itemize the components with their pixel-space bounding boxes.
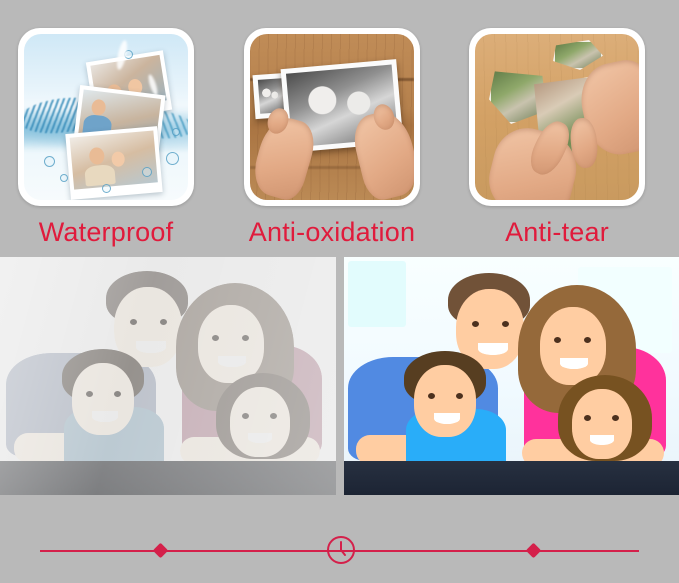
father-eye — [502, 321, 509, 327]
son-eye — [456, 393, 463, 399]
daughter-head — [230, 387, 290, 457]
water-droplet — [60, 174, 68, 182]
mother-eye — [584, 337, 591, 343]
water-droplet — [44, 156, 55, 167]
feature-card-row: Waterproof Anti-oxidation Anti-tear — [0, 0, 679, 255]
father-eye — [472, 321, 479, 327]
family-photo-faded — [0, 257, 336, 495]
background-window — [8, 263, 70, 317]
daughter-eye — [242, 413, 249, 419]
anti-oxidation-scene-image — [250, 34, 414, 200]
feature-label-anti-tear: Anti-tear — [469, 216, 645, 248]
waterproof-scene-image — [24, 34, 188, 200]
water-droplet — [142, 167, 152, 177]
son-eye — [114, 391, 121, 397]
mother-head — [198, 305, 264, 383]
son-smile — [92, 411, 118, 422]
son-head — [72, 363, 134, 435]
daughter-eye — [584, 415, 591, 421]
feature-label-anti-oxidation: Anti-oxidation — [244, 216, 420, 248]
torn-piece-top — [553, 40, 603, 70]
feature-card-anti-tear — [469, 28, 645, 206]
divider-dot-right — [526, 543, 542, 559]
comparison-image-vivid — [344, 257, 679, 495]
son-eye — [86, 391, 93, 397]
father-smile — [478, 343, 508, 355]
mother-eye — [212, 335, 219, 341]
clock-icon — [325, 534, 357, 566]
mother-smile — [218, 356, 246, 367]
feature-label-waterproof: Waterproof — [18, 216, 194, 248]
father-smile — [136, 341, 166, 353]
son-head — [414, 365, 476, 437]
comparison-strip — [0, 257, 679, 495]
son-smile — [434, 413, 460, 424]
mother-smile — [560, 358, 588, 369]
comparison-image-faded — [0, 257, 336, 495]
falling-photo-3 — [65, 126, 162, 200]
daughter-head — [572, 389, 632, 459]
mother-eye — [554, 337, 561, 343]
father-eye — [160, 319, 167, 325]
sofa — [344, 461, 679, 495]
family-photo-vivid — [344, 257, 679, 495]
son-eye — [428, 393, 435, 399]
divider-dot-left — [153, 543, 169, 559]
water-droplet — [102, 184, 111, 193]
product-feature-page: Waterproof Anti-oxidation Anti-tear — [0, 0, 679, 583]
daughter-eye — [612, 415, 619, 421]
daughter-smile — [590, 435, 614, 445]
feature-card-anti-oxidation — [244, 28, 420, 206]
water-droplet — [172, 128, 180, 136]
father-eye — [130, 319, 137, 325]
feature-card-waterproof — [18, 28, 194, 206]
anti-tear-scene-image — [475, 34, 639, 200]
daughter-eye — [270, 413, 277, 419]
photo-3-torso — [84, 164, 116, 187]
water-droplet — [166, 152, 179, 165]
mother-eye — [242, 335, 249, 341]
background-window — [348, 261, 406, 327]
divider-ornament — [0, 495, 679, 583]
mother-head — [540, 307, 606, 385]
daughter-smile — [248, 433, 272, 443]
sofa — [0, 461, 336, 495]
